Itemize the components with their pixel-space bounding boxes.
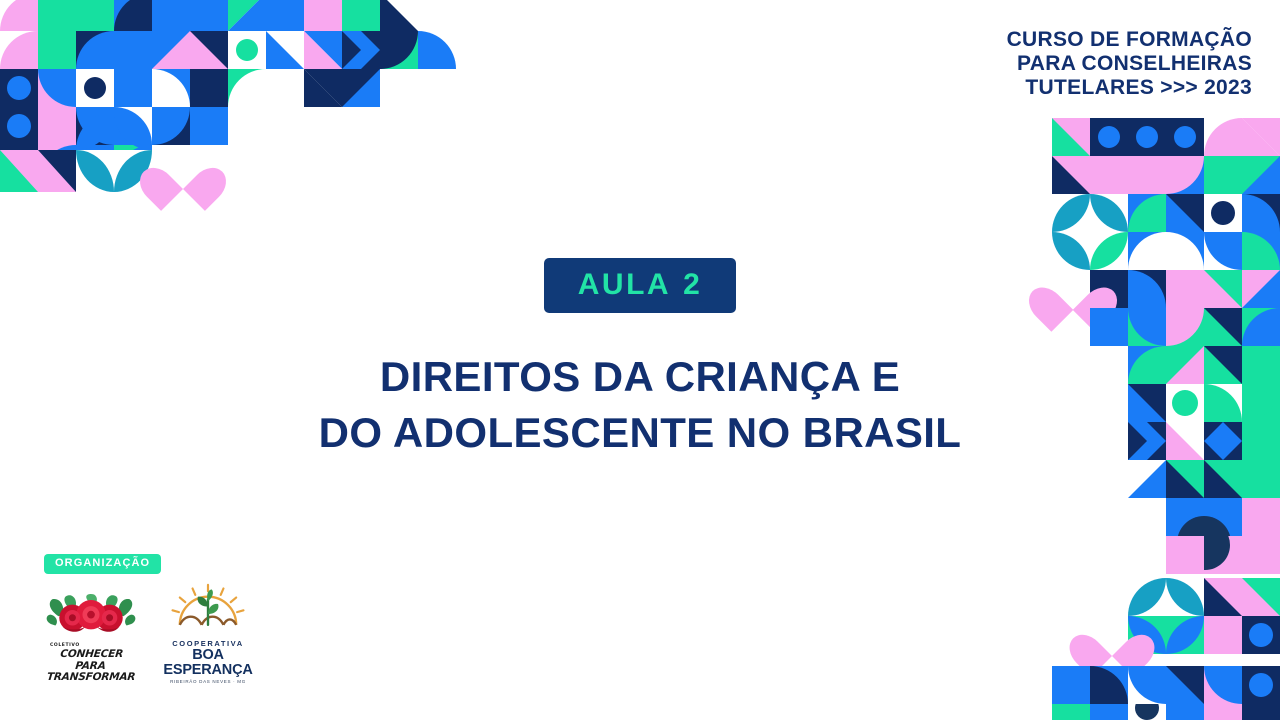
logo-coop-text: COOPERATIVA BOA ESPERANÇA RIBEIRÃO DAS N… [156,639,260,684]
logo-roses-line-2: TRANSFORMAR [43,672,138,684]
roses-icon [44,593,138,641]
slide-center-block: AULA2 DIREITOS DA CRIANÇA E DO ADOLESCEN… [0,258,1280,461]
logo-cooperativa-boa-esperanca: COOPERATIVA BOA ESPERANÇA RIBEIRÃO DAS N… [156,583,260,684]
title-line-2: DO ADOLESCENTE NO BRASIL [0,405,1280,461]
sun-sprout-icon [158,583,258,634]
logo-coop-line-1: BOA ESPERANÇA [156,648,260,678]
title-line-1: DIREITOS DA CRIANÇA E [0,349,1280,405]
heart-icon: .heart[style*="left:152px"]::before,.hea… [152,149,214,199]
page-title: DIREITOS DA CRIANÇA E DO ADOLESCENTE NO … [0,349,1280,461]
organization-logos: COLETIVO CONHECER PARA TRANSFORMAR [44,583,260,684]
course-eyebrow: CURSO DE FORMAÇÃO PARA CONSELHEIRAS TUTE… [1007,28,1252,100]
organization-tag: ORGANIZAÇÃO [44,554,161,574]
top-left-geometric-pattern: .heart[style*="left:152px"]::before,.hea… [0,0,460,200]
lesson-badge-number: 2 [683,268,702,301]
lesson-badge-label: AULA [578,268,671,301]
eyebrow-line-3: TUTELARES >>> 2023 [1007,76,1252,100]
lesson-badge: AULA2 [544,258,737,313]
slide-root: .heart[style*="left:152px"]::before,.hea… [0,0,1280,720]
logo-roses-text: COLETIVO CONHECER PARA TRANSFORMAR [44,644,138,684]
eyebrow-line-1: CURSO DE FORMAÇÃO [1007,28,1252,52]
logo-roses-line-1: CONHECER PARA [43,649,139,672]
logo-coop-line-2: RIBEIRÃO DAS NEVES · MG [156,679,260,684]
organization-block: ORGANIZAÇÃO [44,553,260,684]
logo-coletivo-conhecer-para-transformar: COLETIVO CONHECER PARA TRANSFORMAR [44,593,138,684]
eyebrow-line-2: PARA CONSELHEIRAS [1007,52,1252,76]
heart-icon-bottom [1082,616,1142,666]
